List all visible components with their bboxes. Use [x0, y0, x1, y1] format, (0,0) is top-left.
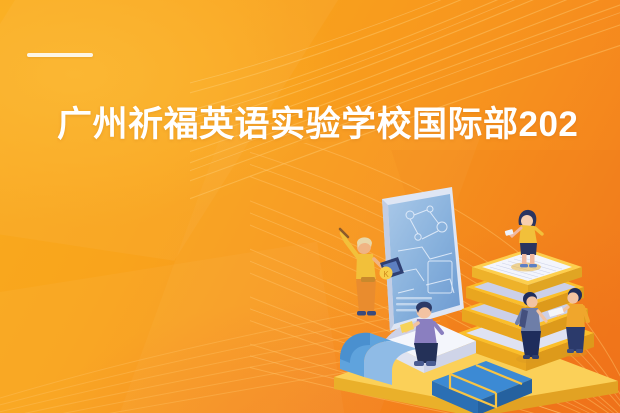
banner-title: 广州祈福英语实验学校国际部202 — [57, 103, 617, 147]
promo-banner: 广州祈福英语实验学校国际部202 — [0, 0, 620, 413]
accent-rule — [27, 53, 93, 57]
background-shading — [0, 0, 620, 413]
